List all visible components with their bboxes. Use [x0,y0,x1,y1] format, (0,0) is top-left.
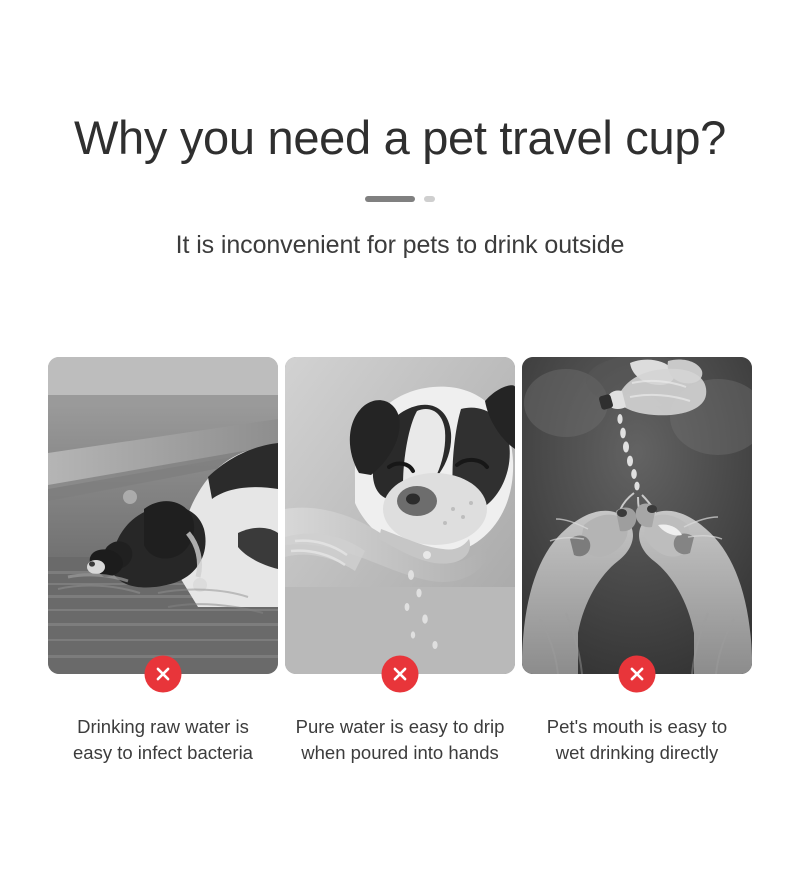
divider-bar-short [424,196,435,202]
cross-icon [619,656,656,693]
page-title: Why you need a pet travel cup? [0,112,800,164]
caption-line-2: easy to infect bacteria [48,740,278,766]
photo-dog-drinking-lake [48,357,278,674]
caption-line-1: Drinking raw water is [48,714,278,740]
cross-icon [382,656,419,693]
page-subtitle: It is inconvenient for pets to drink out… [0,203,800,260]
photo-bulldog-drinking-hands [285,357,515,674]
divider-ornament [0,196,800,203]
problem-card: Drinking raw water is easy to infect bac… [48,357,278,765]
header-section: Why you need a pet travel cup? It is inc… [0,0,800,260]
photo-retrievers-bottle-pour [522,357,752,674]
cross-icon [145,656,182,693]
caption-line-1: Pure water is easy to drip [285,714,515,740]
problem-card-list: Drinking raw water is easy to infect bac… [48,357,752,765]
caption-line-2: wet drinking directly [522,740,752,766]
caption-line-2: when poured into hands [285,740,515,766]
problem-card: Pure water is easy to drip when poured i… [285,357,515,765]
divider-bar-long [365,196,415,202]
caption-line-1: Pet's mouth is easy to [522,714,752,740]
promo-page: Why you need a pet travel cup? It is inc… [0,0,800,884]
problem-card: Pet's mouth is easy to wet drinking dire… [522,357,752,765]
